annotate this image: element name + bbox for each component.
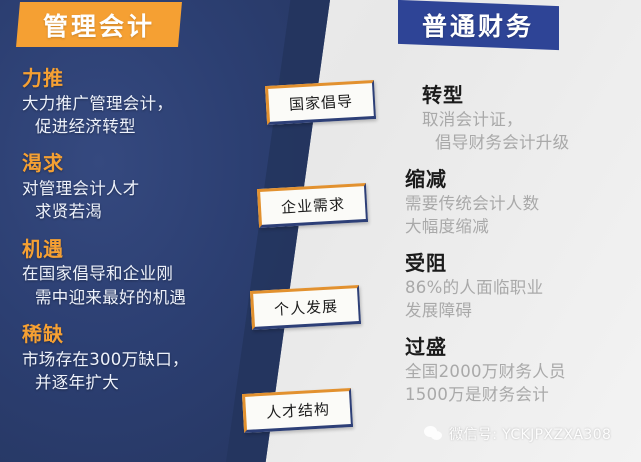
left-column-content: 力推 大力推广管理会计， 促进经济转型 渴求 对管理会计人才 求贤若渴 机遇 在… [22,66,247,408]
right-column-content: 转型 取消会计证， 倡导财务会计升级 缩减 需要传统会计人数 大幅度缩减 受阻 … [405,82,630,417]
left-block-3-line-1: 并逐年扩大 [22,371,247,394]
left-block-1-heading: 渴求 [22,151,247,177]
watermark-text: 微信号: YCKJPXZXA308 [449,424,611,444]
left-block-3-line-0: 市场存在300万缺口， [22,348,247,371]
chip-enterprise-demand[interactable]: 企业需求 [257,183,368,228]
right-block-3-line-1: 1500万是财务会计 [405,383,630,406]
chip-3-label: 人才结构 [265,398,330,423]
left-block-0: 力推 大力推广管理会计， 促进经济转型 [22,66,247,138]
right-block-3: 过盛 全国2000万财务人员 1500万是财务会计 [405,334,630,407]
right-block-1-line-0: 需要传统会计人数 [405,192,630,215]
right-block-0-line-1: 倡导财务会计升级 [405,131,630,154]
right-block-0: 转型 取消会计证， 倡导财务会计升级 [405,82,630,155]
chip-1-label: 企业需求 [280,193,345,218]
right-banner-label: 普通财务 [422,7,534,43]
right-block-0-heading: 转型 [405,82,630,108]
left-banner-label: 管理会计 [43,7,155,43]
chip-0-label: 国家倡导 [288,90,353,115]
right-block-2: 受阻 86%的人面临职业 发展障碍 [405,250,630,323]
right-column-banner: 普通财务 [398,0,559,50]
chip-2-label: 个人发展 [273,295,338,320]
left-block-1-line-0: 对管理会计人才 [22,177,247,200]
chip-talent-structure[interactable]: 人才结构 [242,388,353,433]
right-block-1: 缩减 需要传统会计人数 大幅度缩减 [405,166,630,239]
left-block-3-heading: 稀缺 [22,322,247,348]
left-block-1: 渴求 对管理会计人才 求贤若渴 [22,151,247,223]
left-block-2-heading: 机遇 [22,237,247,263]
left-block-2-line-0: 在国家倡导和企业刚 [22,262,247,285]
wechat-icon [424,426,443,442]
left-block-0-line-1: 促进经济转型 [22,115,247,138]
left-block-2: 机遇 在国家倡导和企业刚 需中迎来最好的机遇 [22,237,247,309]
left-block-0-line-0: 大力推广管理会计， [22,92,247,115]
right-block-1-heading: 缩减 [405,166,630,192]
chip-personal-development[interactable]: 个人发展 [250,285,361,330]
right-block-2-line-1: 发展障碍 [405,299,630,322]
right-block-3-heading: 过盛 [405,334,630,360]
left-block-2-line-1: 需中迎来最好的机遇 [22,286,247,309]
right-block-0-line-0: 取消会计证， [405,108,630,131]
infographic-canvas: 管理会计 普通财务 力推 大力推广管理会计， 促进经济转型 渴求 对管理会计人才… [0,0,641,462]
right-block-1-line-1: 大幅度缩减 [405,215,630,238]
left-block-3: 稀缺 市场存在300万缺口， 并逐年扩大 [22,322,247,394]
right-block-3-line-0: 全国2000万财务人员 [405,360,630,383]
wechat-bubble-small [431,431,442,440]
right-block-2-heading: 受阻 [405,250,630,276]
left-block-0-heading: 力推 [22,66,247,92]
left-column-banner: 管理会计 [16,2,182,47]
watermark: 微信号: YCKJPXZXA308 [424,424,611,444]
chip-national-advocacy[interactable]: 国家倡导 [265,80,376,125]
left-block-1-line-1: 求贤若渴 [22,200,247,223]
right-block-2-line-0: 86%的人面临职业 [405,276,630,299]
